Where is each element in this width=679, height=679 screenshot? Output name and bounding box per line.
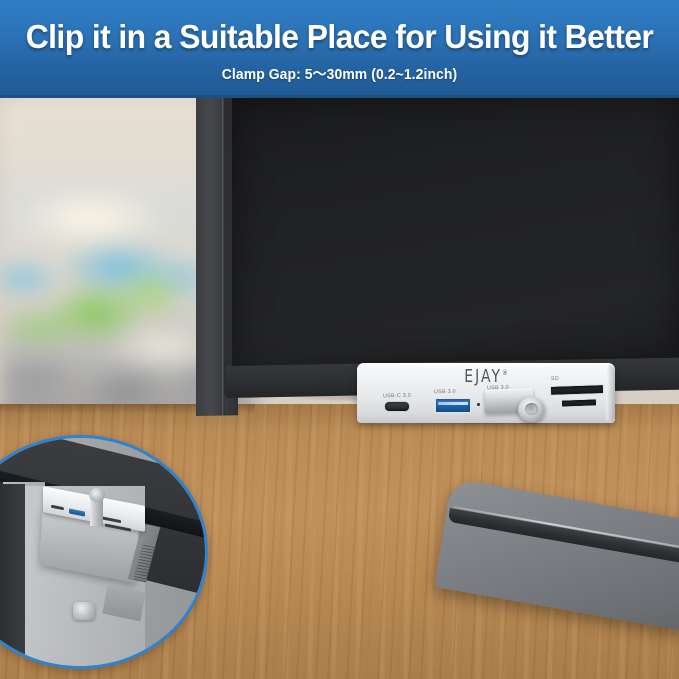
sd-card-slot bbox=[550, 384, 604, 396]
hub-front-face: EJAY® USB-C 3.0 USB 3.0 USB 3.0 SD TF bbox=[357, 363, 615, 423]
usb-flash-drive bbox=[485, 383, 545, 423]
trademark-symbol: ® bbox=[502, 369, 508, 377]
monitor-screen bbox=[232, 90, 679, 374]
inset-clamp-screw bbox=[73, 602, 95, 620]
port-label-sd: SD bbox=[551, 376, 559, 382]
banner-subtitle: Clamp Gap: 5～30mm (0.2~1.2inch) bbox=[14, 63, 666, 84]
inset-flash-drive bbox=[87, 488, 107, 530]
inset-hub bbox=[43, 496, 155, 562]
header-banner: Clip it in a Suitable Place for Using it… bbox=[0, 0, 679, 98]
port-label-usb-c: USB-C 3.0 bbox=[383, 393, 411, 400]
led-indicator bbox=[477, 403, 480, 406]
usb-a-port-blue bbox=[435, 398, 471, 413]
inset-panel-shadow-b bbox=[3, 484, 25, 669]
hub-right-edge bbox=[606, 365, 615, 421]
laptop bbox=[452, 478, 679, 628]
product-image-scene: EJAY® USB-C 3.0 USB 3.0 USB 3.0 SD TF bbox=[0, 0, 679, 679]
inset-circle-frame bbox=[0, 435, 208, 669]
inset-flash-drive-ring bbox=[89, 488, 105, 502]
flash-drive-ring-hole bbox=[525, 403, 538, 415]
tf-card-slot bbox=[561, 398, 597, 407]
ejay-usb-hub: EJAY® USB-C 3.0 USB 3.0 USB 3.0 SD TF bbox=[357, 363, 615, 429]
detail-inset bbox=[0, 435, 210, 667]
usb-c-port bbox=[384, 401, 410, 412]
port-label-usb3-first: USB 3.0 bbox=[434, 389, 456, 396]
banner-title: Clip it in a Suitable Place for Using it… bbox=[12, 20, 667, 53]
